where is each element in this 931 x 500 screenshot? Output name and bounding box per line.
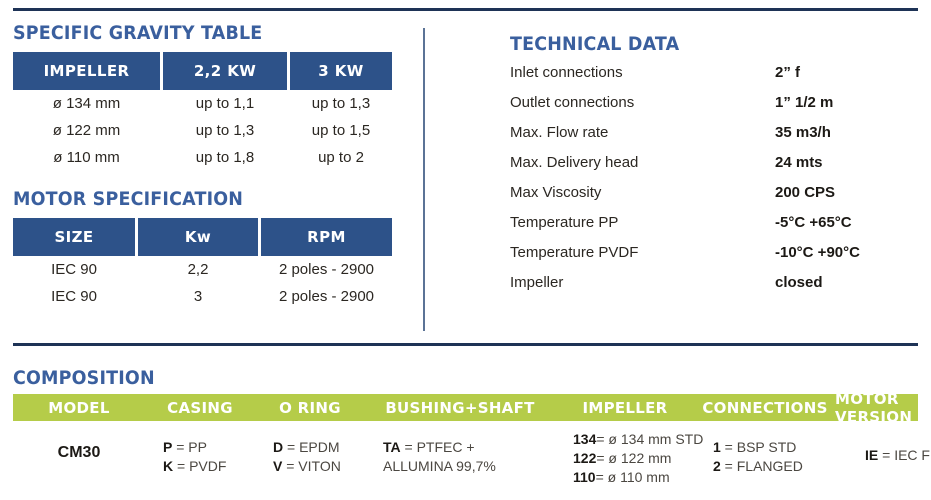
technical-data-row: Temperature PVDF-10°C +90°C [510, 238, 920, 268]
composition-bushing-shaft-cell: TA = PTFEC +ALLUMINA 99,7% [383, 438, 553, 476]
technical-data-value: 1” 1/2 m [775, 88, 833, 118]
specific-gravity-cell: up to 2 [290, 144, 392, 171]
composition-model-value: CM30 [13, 444, 145, 462]
composition-impeller-cell: 134= ø 134 mm STD122= ø 122 mm110= ø 110… [573, 430, 733, 487]
table-row: IEC 9032 poles - 2900 [13, 283, 392, 310]
top-divider-rule [13, 8, 918, 11]
technical-data-row: Max Viscosity200 CPS [510, 178, 920, 208]
specific-gravity-header-cell: 2,2 KW [163, 52, 287, 90]
technical-data-row: Temperature PP-5°C +65°C [510, 208, 920, 238]
motor-specification-cell: 2 poles - 2900 [261, 256, 392, 283]
table-row: ø 134 mmup to 1,1up to 1,3 [13, 90, 392, 117]
technical-data-value: 24 mts [775, 148, 823, 178]
technical-data-value: 200 CPS [775, 178, 835, 208]
composition-option: 110= ø 110 mm [573, 468, 733, 487]
technical-data-label: Max. Delivery head [510, 148, 638, 178]
composition-option: TA = PTFEC + [383, 438, 553, 457]
table-row: ø 110 mmup to 1,8up to 2 [13, 144, 392, 171]
technical-data-label: Max Viscosity [510, 178, 601, 208]
motor-specification-cell: 2 poles - 2900 [261, 283, 392, 310]
composition-header-cell: MOTOR VERSION [835, 394, 918, 421]
table-row: ø 122 mmup to 1,3up to 1,5 [13, 117, 392, 144]
composition-header-cell: BUSHING+SHAFT [365, 394, 555, 421]
technical-data-label: Outlet connections [510, 88, 634, 118]
specific-gravity-cell: ø 134 mm [13, 90, 160, 117]
composition-option: P = PP [163, 438, 273, 457]
motor-specification-header-cell: RPM [261, 218, 392, 256]
technical-data-heading: TECHNICAL DATA [510, 33, 679, 55]
composition-option: D = EPDM [273, 438, 393, 457]
motor-specification-header-cell: SIZE [13, 218, 135, 256]
motor-specification-table: SIZEKwRPMIEC 902,22 poles - 2900IEC 9032… [13, 218, 392, 310]
composition-header-cell: O RING [255, 394, 365, 421]
technical-data-row: Outlet connections1” 1/2 m [510, 88, 920, 118]
technical-data-row: Impellerclosed [510, 268, 920, 298]
specific-gravity-table: IMPELLER2,2 KW3 KWø 134 mmup to 1,1up to… [13, 52, 392, 171]
composition-option: V = VITON [273, 457, 393, 476]
composition-connections-cell: 1 = BSP STD2 = FLANGED [713, 438, 845, 476]
motor-specification-cell: 3 [138, 283, 258, 310]
specific-gravity-cell: ø 110 mm [13, 144, 160, 171]
composition-o-ring-cell: D = EPDMV = VITON [273, 438, 393, 476]
motor-specification-cell: IEC 90 [13, 256, 135, 283]
specific-gravity-header-cell: IMPELLER [13, 52, 160, 90]
composition-option: ALLUMINA 99,7% [383, 457, 553, 476]
composition-header-band: MODELCASINGO RINGBUSHING+SHAFTIMPELLERCO… [13, 394, 918, 421]
composition-option: K = PVDF [163, 457, 273, 476]
specific-gravity-cell: up to 1,3 [290, 90, 392, 117]
composition-option: 134= ø 134 mm STD [573, 430, 733, 449]
motor-specification-header-cell: Kw [138, 218, 258, 256]
composition-header-cell: CASING [145, 394, 255, 421]
composition-option: 1 = BSP STD [713, 438, 845, 457]
motor-specification-heading: MOTOR SPECIFICATION [13, 188, 243, 210]
specific-gravity-cell: up to 1,3 [163, 117, 287, 144]
motor-specification-header-row: SIZEKwRPM [13, 218, 392, 256]
technical-data-label: Temperature PP [510, 208, 618, 238]
composition-header-cell: MODEL [13, 394, 145, 421]
technical-data-row: Inlet connections2” f [510, 58, 920, 88]
specific-gravity-cell: up to 1,1 [163, 90, 287, 117]
middle-divider-rule [13, 343, 918, 346]
technical-data-label: Inlet connections [510, 58, 623, 88]
technical-data-value: 35 m3/h [775, 118, 831, 148]
composition-body: CM30P = PPK = PVDFD = EPDMV = VITONTA = … [13, 430, 918, 492]
specific-gravity-heading: SPECIFIC GRAVITY TABLE [13, 22, 262, 44]
technical-data-row: Max. Delivery head24 mts [510, 148, 920, 178]
specific-gravity-cell: up to 1,8 [163, 144, 287, 171]
technical-data-value: -10°C +90°C [775, 238, 860, 268]
technical-data-value: 2” f [775, 58, 800, 88]
composition-option: 2 = FLANGED [713, 457, 845, 476]
composition-header-cell: CONNECTIONS [695, 394, 835, 421]
technical-data-label: Temperature PVDF [510, 238, 638, 268]
composition-option: IE = IEC FLANGE [865, 446, 931, 465]
table-row: IEC 902,22 poles - 2900 [13, 256, 392, 283]
technical-data-label: Max. Flow rate [510, 118, 608, 148]
specific-gravity-cell: ø 122 mm [13, 117, 160, 144]
composition-option: 122= ø 122 mm [573, 449, 733, 468]
composition-header-cell: IMPELLER [555, 394, 695, 421]
composition-casing-cell: P = PPK = PVDF [163, 438, 273, 476]
composition-motor-version-cell: IE = IEC FLANGE [865, 446, 931, 465]
specific-gravity-header-cell: 3 KW [290, 52, 392, 90]
technical-data-value: -5°C +65°C [775, 208, 852, 238]
technical-data-row: Max. Flow rate35 m3/h [510, 118, 920, 148]
technical-data-label: Impeller [510, 268, 563, 298]
specific-gravity-header-row: IMPELLER2,2 KW3 KW [13, 52, 392, 90]
technical-data-value: closed [775, 268, 823, 298]
technical-data-list: Inlet connections2” fOutlet connections1… [510, 58, 920, 298]
motor-specification-cell: 2,2 [138, 256, 258, 283]
composition-heading: COMPOSITION [13, 367, 155, 389]
vertical-divider-rule [423, 28, 425, 331]
motor-specification-cell: IEC 90 [13, 283, 135, 310]
specific-gravity-cell: up to 1,5 [290, 117, 392, 144]
